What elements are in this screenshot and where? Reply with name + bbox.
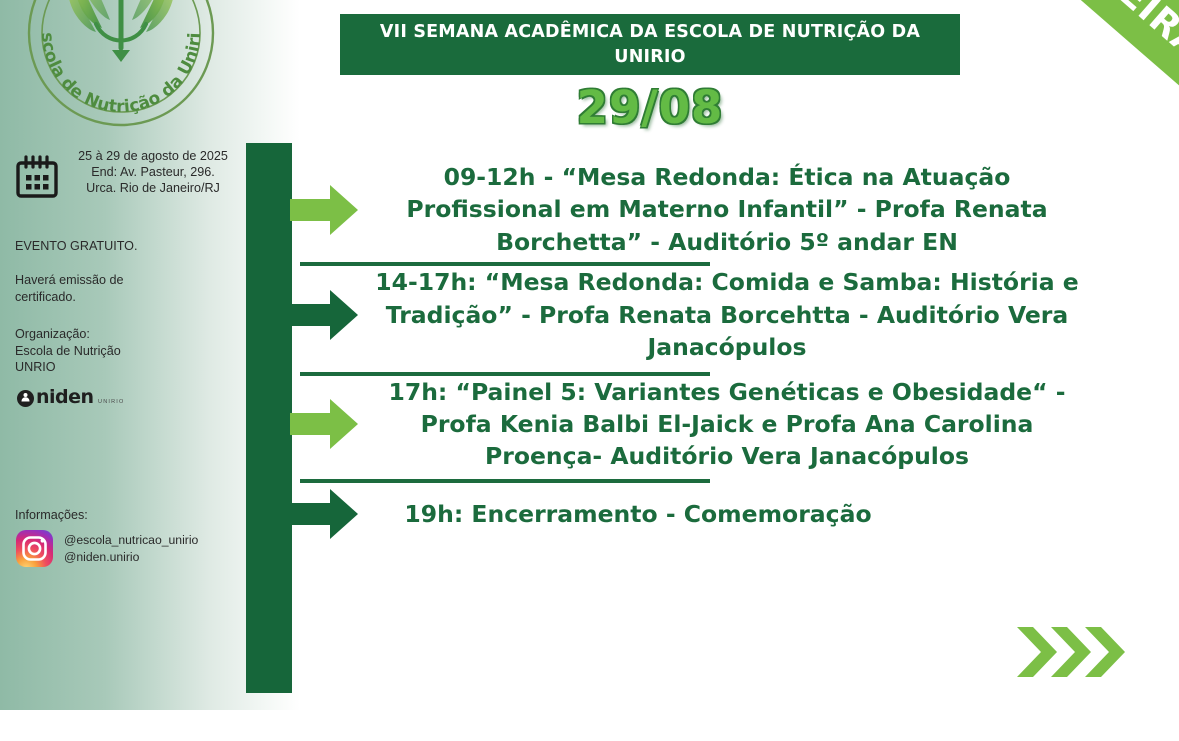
calendar-icon [14, 154, 60, 200]
niden-wordmark: niden UNIRIO [36, 388, 124, 408]
schedule-list: 09-12h - “Mesa Redonda: Ética na Atuação… [292, 155, 1112, 545]
event-date-block: 25 à 29 de agosto de 2025 End: Av. Paste… [14, 148, 244, 200]
event-address-line2: Urca. Rio de Janeiro/RJ [86, 181, 220, 195]
schedule-item-text: 14-17h: “Mesa Redonda: Comida e Samba: H… [360, 266, 1112, 363]
certificate-note: Haverá emissão decertificado. [15, 272, 230, 305]
svg-text:Escola de Nutrição da Unirio: Escola de Nutrição da Unirio [16, 0, 205, 117]
niden-subtitle: UNIRIO [98, 399, 124, 405]
page-title: VII SEMANA ACADÊMICA DA ESCOLA DE NUTRIÇ… [340, 14, 960, 75]
instagram-handle-1: @escola_nutricao_unirio [64, 533, 198, 547]
niden-logo: niden UNIRIO [17, 388, 124, 408]
timeline-spine [246, 143, 292, 693]
arrow-right-icon [290, 284, 360, 346]
event-address-line1: End: Av. Pasteur, 296. [91, 165, 214, 179]
header: VII SEMANA ACADÊMICA DA ESCOLA DE NUTRIÇ… [300, 0, 1000, 134]
event-day-badge: 29/08 [300, 81, 1000, 134]
logo-curved-text: Escola de Nutrição da Unirio [16, 0, 205, 117]
arrow-right-icon [290, 483, 360, 545]
event-dates: 25 à 29 de agosto de 2025 [78, 149, 228, 163]
organization-note: Organização:Escola de NutriçãoUNRIO [15, 326, 230, 376]
instagram-handle-2: @niden.unirio [64, 550, 139, 564]
niden-mark-icon [17, 390, 34, 407]
instagram-row[interactable]: @escola_nutricao_unirio @niden.unirio [16, 530, 198, 567]
schedule-item: 09-12h - “Mesa Redonda: Ética na Atuação… [292, 161, 1112, 258]
schedule-item-text: 17h: “Painel 5: Variantes Genéticas e Ob… [360, 376, 1112, 473]
event-date-text: 25 à 29 de agosto de 2025 End: Av. Paste… [68, 148, 238, 196]
free-event-note: EVENTO GRATUITO. [15, 238, 230, 255]
info-label: Informações: [15, 508, 88, 522]
schedule-item: 19h: Encerramento - Comemoração [292, 483, 1112, 545]
title-line-2: UNIRIO [348, 45, 952, 70]
poster-root: Escola de Nutrição da Unirio [0, 0, 1179, 741]
arrow-right-icon [290, 179, 360, 241]
instagram-icon[interactable] [16, 530, 53, 567]
schedule-item-text: 19h: Encerramento - Comemoração [360, 498, 1112, 530]
triple-chevron-right-icon [1015, 625, 1145, 679]
arrow-right-icon [290, 393, 360, 455]
schedule-item: 17h: “Painel 5: Variantes Genéticas e Ob… [292, 376, 1112, 473]
niden-word: niden [36, 386, 94, 408]
instagram-handles: @escola_nutricao_unirio @niden.unirio [64, 532, 198, 565]
corner-ribbon: - FEIRA [969, 0, 1179, 119]
schedule-item-text: 09-12h - “Mesa Redonda: Ética na Atuação… [360, 161, 1112, 258]
title-line-1: VII SEMANA ACADÊMICA DA ESCOLA DE NUTRIÇ… [380, 22, 920, 42]
ribbon-label: - FEIRA [1070, 0, 1179, 67]
schedule-item: 14-17h: “Mesa Redonda: Comida e Samba: H… [292, 266, 1112, 363]
school-logo: Escola de Nutrição da Unirio [16, 0, 226, 138]
